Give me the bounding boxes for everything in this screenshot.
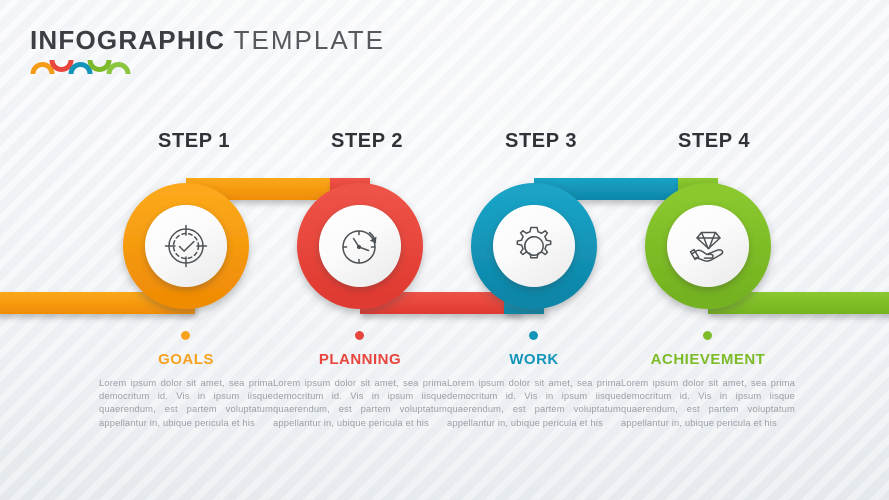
gear-icon — [509, 221, 559, 271]
icon-disc-4 — [667, 205, 749, 287]
title-strong: INFOGRAPHIC — [30, 25, 225, 55]
step-node-3[interactable] — [470, 182, 598, 310]
step-text-column-1: GOALS Lorem ipsum dolor sit amet, sea pr… — [99, 352, 273, 429]
hand-diamond-icon — [683, 221, 733, 271]
wave-arcs-decoration-icon — [30, 57, 132, 77]
step-title-4: ACHIEVEMENT — [621, 352, 795, 367]
step-dot-2 — [355, 331, 364, 340]
step-title-3: WORK — [447, 352, 621, 367]
step-body-2: Lorem ipsum dolor sit amet, sea prima de… — [273, 376, 447, 429]
page-title: INFOGRAPHIC TEMPLATE — [30, 27, 385, 53]
step-text-column-2: PLANNING Lorem ipsum dolor sit amet, sea… — [273, 352, 447, 429]
icon-disc-1 — [145, 205, 227, 287]
step-text-column-4: ACHIEVEMENT Lorem ipsum dolor sit amet, … — [621, 352, 795, 429]
step-dot-1 — [181, 331, 190, 340]
step-dot-3 — [529, 331, 538, 340]
step-title-1: GOALS — [99, 352, 273, 367]
step-body-4: Lorem ipsum dolor sit amet, sea prima de… — [621, 376, 795, 429]
step-node-2[interactable] — [296, 182, 424, 310]
step-node-1[interactable] — [122, 182, 250, 310]
step-body-1: Lorem ipsum dolor sit amet, sea prima de… — [99, 376, 273, 429]
step-text-column-3: WORK Lorem ipsum dolor sit amet, sea pri… — [447, 352, 621, 429]
clock-rotate-icon — [335, 221, 385, 271]
infographic-canvas: INFOGRAPHIC TEMPLATE STEP 1 STEP 2 STEP … — [0, 0, 889, 500]
step-body-3: Lorem ipsum dolor sit amet, sea prima de… — [447, 376, 621, 429]
step-dot-4 — [703, 331, 712, 340]
target-check-icon — [161, 221, 211, 271]
step-title-2: PLANNING — [273, 352, 447, 367]
step-node-4[interactable] — [644, 182, 772, 310]
title-light: TEMPLATE — [234, 25, 385, 55]
icon-disc-3 — [493, 205, 575, 287]
icon-disc-2 — [319, 205, 401, 287]
